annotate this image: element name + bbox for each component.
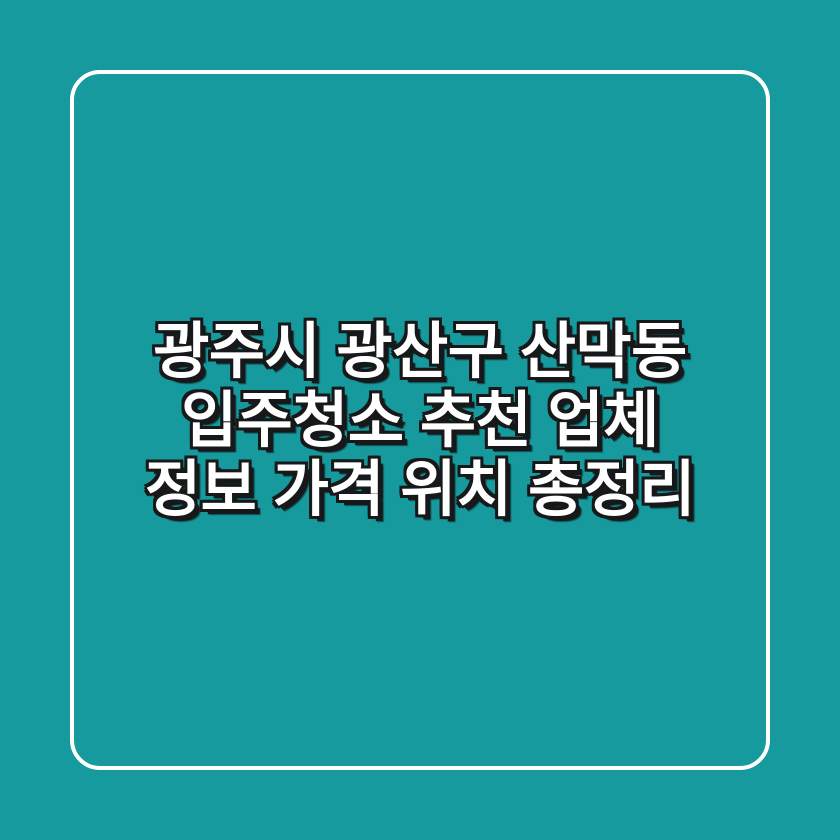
title-line-2: 입주청소 추천 업체 bbox=[90, 386, 750, 455]
thumbnail-canvas: 광주시 광산구 산막동 입주청소 추천 업체 정보 가격 위치 총정리 bbox=[0, 0, 840, 840]
title-line-1: 광주시 광산구 산막동 bbox=[90, 317, 750, 386]
title-line-3: 정보 가격 위치 총정리 bbox=[90, 455, 750, 524]
page-title: 광주시 광산구 산막동 입주청소 추천 업체 정보 가격 위치 총정리 bbox=[0, 0, 840, 840]
